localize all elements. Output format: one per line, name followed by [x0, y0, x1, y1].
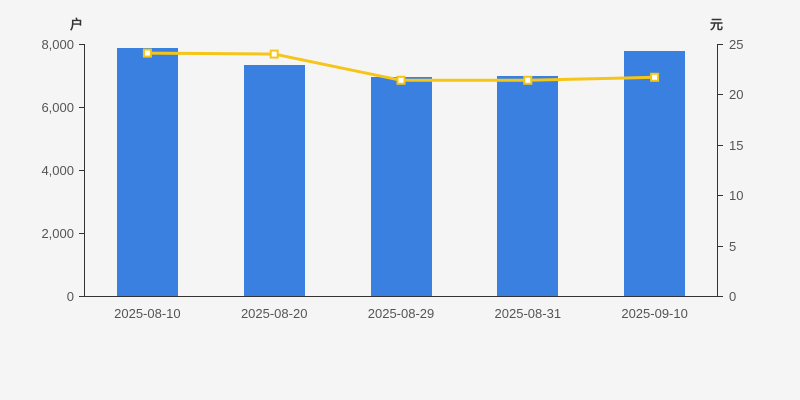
x-axis-tick-label: 2025-09-10: [621, 306, 688, 321]
right-tick-label: 25: [718, 38, 743, 51]
left-tick-label: 4,000: [41, 164, 84, 177]
right-tick-label: 5: [718, 240, 736, 253]
left-axis-unit-label: 户: [70, 14, 83, 33]
line-marker[interactable]: [271, 51, 278, 58]
right-tick-label: 10: [718, 189, 743, 202]
line-marker[interactable]: [651, 74, 658, 81]
x-axis-tick-label: 2025-08-29: [368, 306, 435, 321]
right-tick-label: 15: [718, 139, 743, 152]
right-tick-label: 20: [718, 88, 743, 101]
line-marker[interactable]: [524, 77, 531, 84]
right-axis-unit-label: 元: [710, 14, 723, 33]
right-tick-label: 0: [718, 290, 736, 303]
line-marker[interactable]: [398, 77, 405, 84]
left-tick-label: 8,000: [41, 38, 84, 51]
left-tick-label: 0: [67, 290, 84, 303]
left-tick-label: 2,000: [41, 227, 84, 240]
chart-container: 户 元 02,0004,0006,0008,000 0510152025 202…: [0, 0, 800, 400]
x-axis-tick-label: 2025-08-31: [495, 306, 562, 321]
x-axis-tick-label: 2025-08-20: [241, 306, 308, 321]
x-axis-tick-label: 2025-08-10: [114, 306, 181, 321]
line-marker[interactable]: [144, 50, 151, 57]
plot-area: 02,0004,0006,0008,000 0510152025 2025-08…: [84, 44, 718, 296]
x-axis-line: [84, 296, 718, 297]
line-series: [84, 44, 718, 296]
left-tick-label: 6,000: [41, 101, 84, 114]
